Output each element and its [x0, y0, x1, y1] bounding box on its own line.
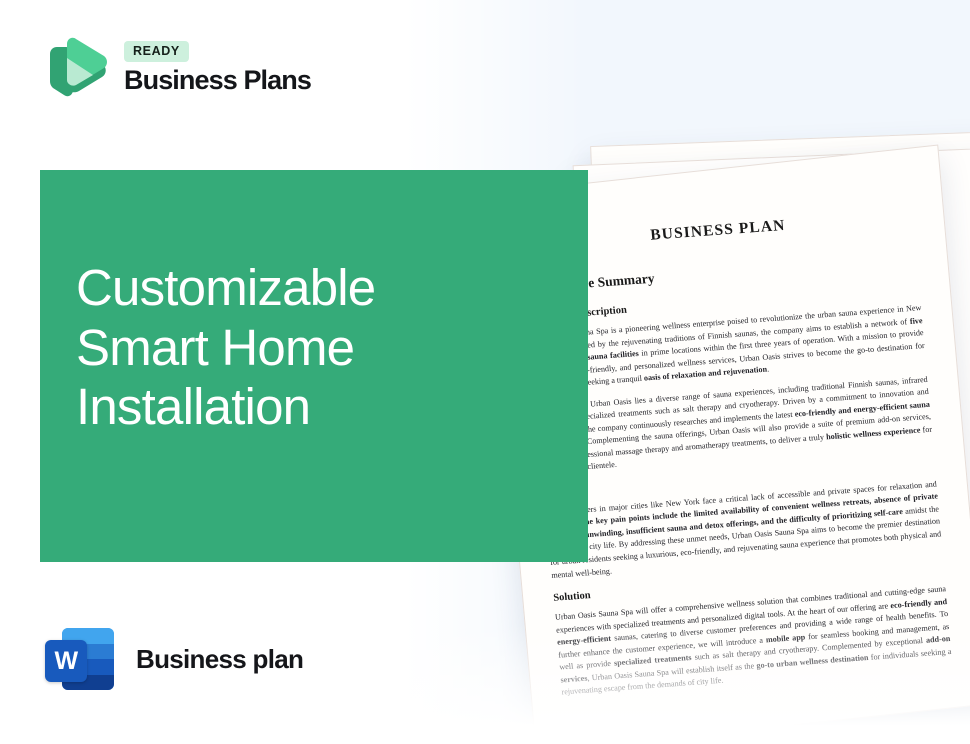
document-paragraph: At the heart of Urban Oasis lies a diver… — [536, 374, 933, 478]
word-icon-letter-tile: W — [45, 640, 87, 682]
ready-badge: READY — [124, 41, 189, 61]
brand-text-block: READY Business Plans — [124, 41, 311, 95]
file-label: Business plan — [136, 644, 303, 675]
brand-name: Business Plans — [124, 65, 311, 95]
page-canvas: READY Business Plans BUSINESS PLAN I. Ex… — [0, 0, 970, 744]
document-subsection: Problem Urban dwellers in major cities l… — [544, 459, 943, 582]
word-icon-letter: W — [54, 649, 77, 674]
hero-panel: Customizable Smart Home Installation — [40, 170, 588, 562]
microsoft-word-icon: W — [44, 622, 118, 696]
file-chip[interactable]: W Business plan — [44, 622, 303, 696]
document-subsection: Company Description Urban Oasis Sauna Sp… — [528, 283, 933, 477]
document-backdrop-bottom-fade — [405, 624, 970, 744]
page-title: Customizable Smart Home Installation — [76, 258, 546, 437]
brand-header[interactable]: READY Business Plans — [46, 34, 311, 102]
play-triangle-logo-icon — [46, 34, 110, 102]
